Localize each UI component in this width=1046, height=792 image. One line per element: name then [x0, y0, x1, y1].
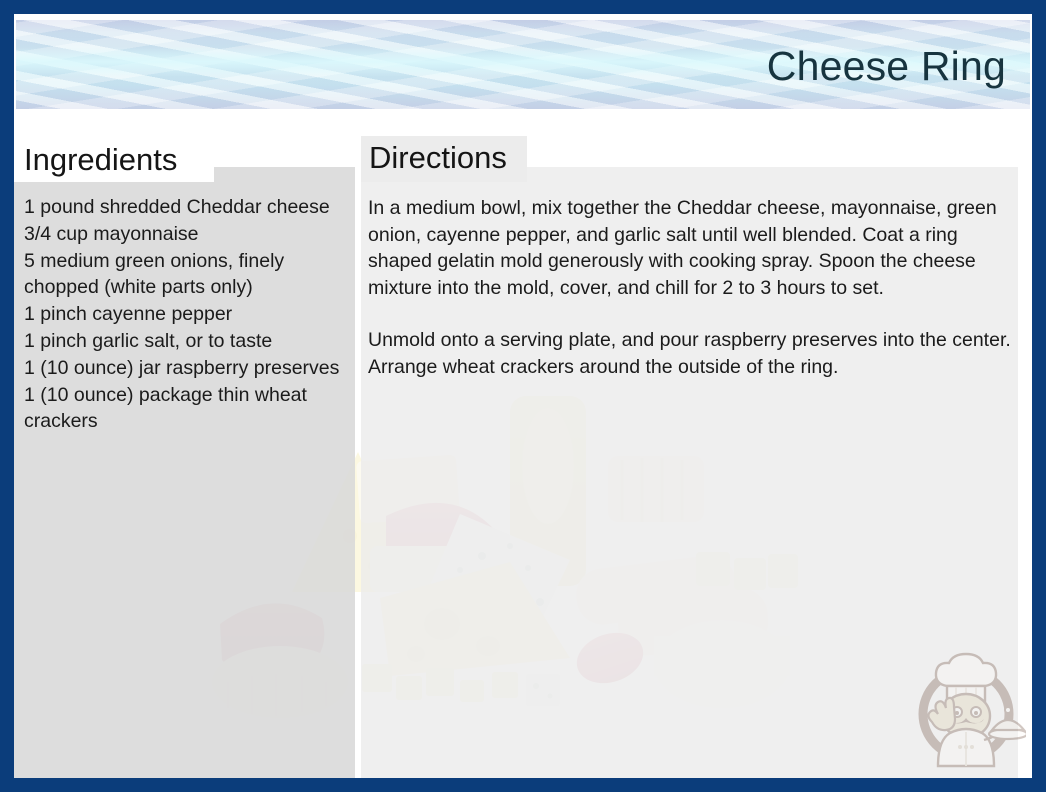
directions-heading: Directions [369, 140, 507, 176]
list-item: 1 pinch cayenne pepper [24, 301, 346, 328]
list-item: 1 (10 ounce) package thin wheat crackers [24, 382, 346, 436]
directions-paragraph: In a medium bowl, mix together the Chedd… [368, 195, 1018, 301]
recipe-page: Cheese Ring [14, 14, 1032, 778]
page-title: Cheese Ring [767, 44, 1006, 88]
directions-body: In a medium bowl, mix together the Chedd… [368, 195, 1018, 380]
list-item: 5 medium green onions, finely chopped (w… [24, 248, 346, 302]
ingredients-list: 1 pound shredded Cheddar cheese 3/4 cup … [24, 194, 346, 435]
list-item: 1 (10 ounce) jar raspberry preserves [24, 355, 346, 382]
list-item: 1 pinch garlic salt, or to taste [24, 328, 346, 355]
list-item: 3/4 cup mayonnaise [24, 221, 346, 248]
directions-paragraph: Unmold onto a serving plate, and pour ra… [368, 327, 1018, 380]
ingredients-heading: Ingredients [24, 142, 177, 178]
recipe-card: Cheese Ring [0, 0, 1046, 792]
list-item: 1 pound shredded Cheddar cheese [24, 194, 346, 221]
